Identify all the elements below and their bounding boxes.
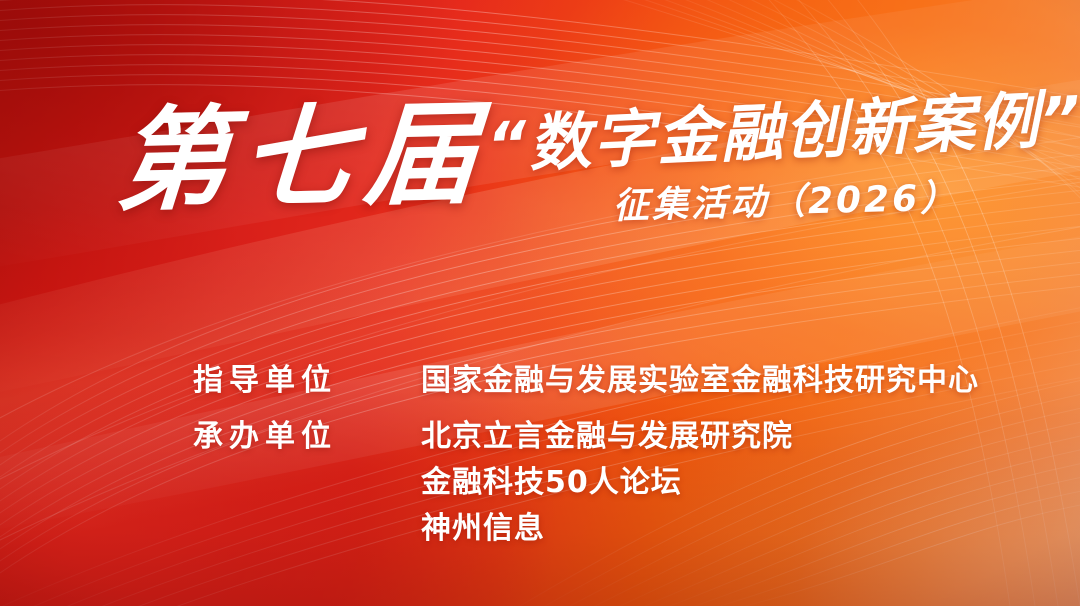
credit-value: 国家金融与发展实验室金融科技研究中心 [421,358,1033,404]
credit-row-guidance: 指导单位 国家金融与发展实验室金融科技研究中心 [193,358,1033,404]
credit-row-organizer: 承办单位 北京立言金融与发展研究院 金融科技50人论坛 神州信息 [193,414,1033,552]
credits-block: 指导单位 国家金融与发展实验室金融科技研究中心 承办单位 北京立言金融与发展研究… [193,358,1033,562]
credit-label-guidance: 指导单位 [193,358,421,404]
credit-value: 神州信息 [421,506,1033,552]
page-subtitle: 征集活动（2026） [613,181,960,225]
page-title-quoted: “数字金融创新案例” [486,88,1080,177]
credit-value: 金融科技50人论坛 [421,460,1033,506]
credit-values-organizer: 北京立言金融与发展研究院 金融科技50人论坛 神州信息 [421,414,1033,552]
page-title-main: 第七届 [113,98,493,218]
credit-values-guidance: 国家金融与发展实验室金融科技研究中心 [421,358,1033,404]
credit-label-organizer: 承办单位 [193,414,421,460]
credit-value: 北京立言金融与发展研究院 [421,414,1033,460]
poster-canvas: 第七届 “数字金融创新案例” 征集活动（2026） 指导单位 国家金融与发展实验… [0,0,1080,606]
